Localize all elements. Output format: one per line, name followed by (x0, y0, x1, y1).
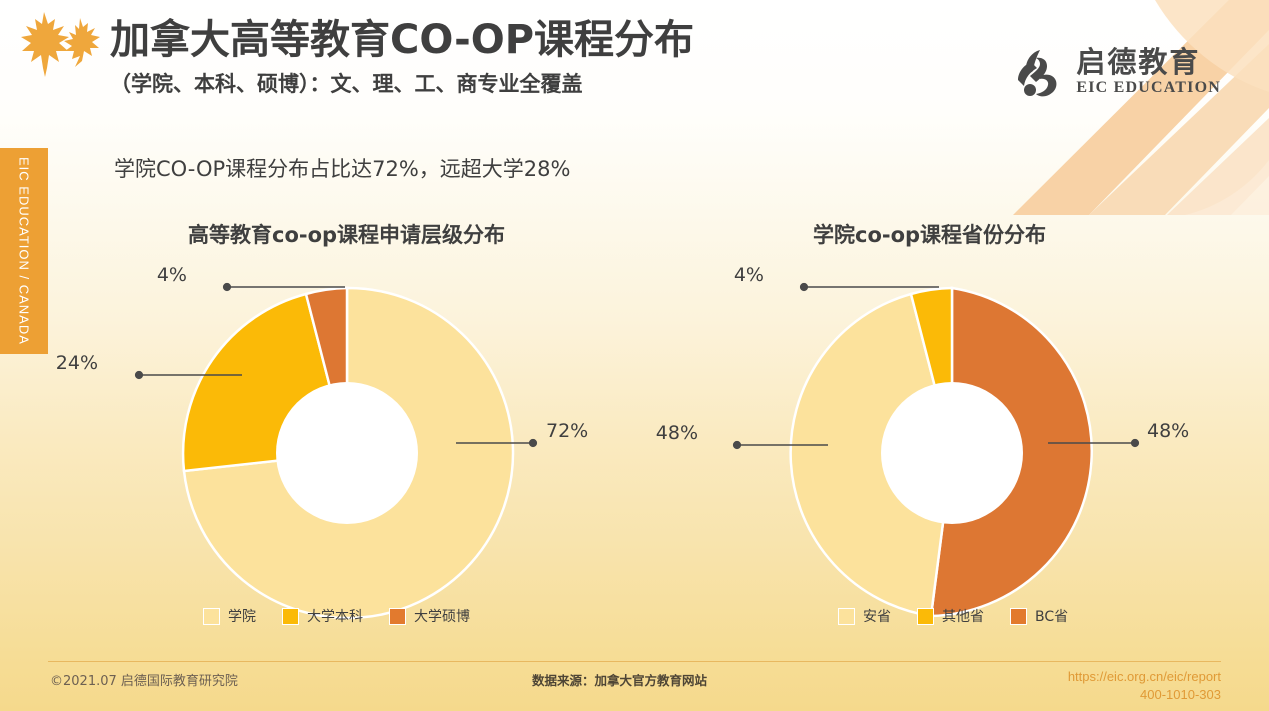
pct-label-right-48-left: 48% (656, 422, 698, 444)
page-subtitle: （学院、本科、硕博）：文、理、工、商专业全覆盖 (110, 68, 870, 98)
legend-label: 大学本科 (307, 606, 363, 626)
pct-label-right-4: 4% (734, 264, 764, 286)
donut-svg-right (680, 265, 1240, 625)
legend-left: 学院 大学本科 大学硕博 (203, 606, 470, 626)
legend-label: 安省 (863, 606, 891, 626)
donut-hole-left (276, 382, 418, 524)
footer-contact: https://eic.org.cn/eic/report 400-1010-3… (1068, 668, 1221, 703)
legend-swatch-qita (917, 608, 934, 625)
donut-chart-province: 4% 48% 48% (680, 265, 1240, 625)
footer-divider (48, 661, 1221, 662)
donut-svg-left (60, 265, 620, 625)
legend-item[interactable]: BC省 (1010, 606, 1068, 626)
legend-swatch-benke (282, 608, 299, 625)
pct-label-right-48-right: 48% (1147, 420, 1189, 442)
slide-canvas: 加拿大高等教育CO-OP课程分布 （学院、本科、硕博）：文、理、工、商专业全覆盖… (0, 0, 1269, 711)
footer-data-source: 数据来源：加拿大官方教育网站 (532, 670, 707, 689)
legend-label: 大学硕博 (414, 606, 470, 626)
logo-text-cn: 启德教育 (1076, 48, 1221, 77)
legend-item[interactable]: 大学硕博 (389, 606, 470, 626)
side-tab: EIC EDUCATION / CANADA (0, 148, 48, 354)
legend-item[interactable]: 大学本科 (282, 606, 363, 626)
pct-label-left-4: 4% (157, 264, 187, 286)
donut-hole-right (881, 382, 1023, 524)
footer-copyright: ©2021.07 启德国际教育研究院 (50, 670, 238, 689)
legend-swatch-xueyuan (203, 608, 220, 625)
legend-swatch-shuobo (389, 608, 406, 625)
title-block: 加拿大高等教育CO-OP课程分布 （学院、本科、硕博）：文、理、工、商专业全覆盖 (110, 18, 870, 98)
chart-title-right: 学院co-op课程省份分布 (813, 219, 1046, 249)
pct-label-left-72: 72% (546, 420, 588, 442)
maple-leaf-icon (14, 8, 106, 80)
ribbon-shapes (969, 0, 1269, 215)
page-title: 加拿大高等教育CO-OP课程分布 (110, 18, 870, 62)
legend-swatch-anshen (838, 608, 855, 625)
legend-swatch-bc (1010, 608, 1027, 625)
pct-label-left-24: 24% (56, 352, 98, 374)
footer-url[interactable]: https://eic.org.cn/eic/report (1068, 668, 1221, 686)
chart-title-left: 高等教育co-op课程申请层级分布 (188, 219, 505, 249)
side-tab-label: EIC EDUCATION / CANADA (17, 157, 32, 345)
donut-chart-education-level: 4% 24% 72% (60, 265, 620, 625)
legend-item[interactable]: 安省 (838, 606, 891, 626)
lead-sentence: 学院CO-OP课程分布占比达72%，远超大学28% (114, 153, 570, 183)
legend-item[interactable]: 其他省 (917, 606, 984, 626)
legend-label: 学院 (228, 606, 256, 626)
footer-phone: 400-1010-303 (1068, 686, 1221, 704)
legend-item[interactable]: 学院 (203, 606, 256, 626)
logo-text-en: EIC EDUCATION (1076, 80, 1221, 96)
legend-label: 其他省 (942, 606, 984, 626)
decorative-ribbons (969, 0, 1269, 215)
legend-label: BC省 (1035, 606, 1068, 626)
eic-logo-mark-icon (1016, 46, 1064, 98)
legend-right: 安省 其他省 BC省 (838, 606, 1068, 626)
eic-logo: 启德教育 EIC EDUCATION (1016, 46, 1221, 98)
